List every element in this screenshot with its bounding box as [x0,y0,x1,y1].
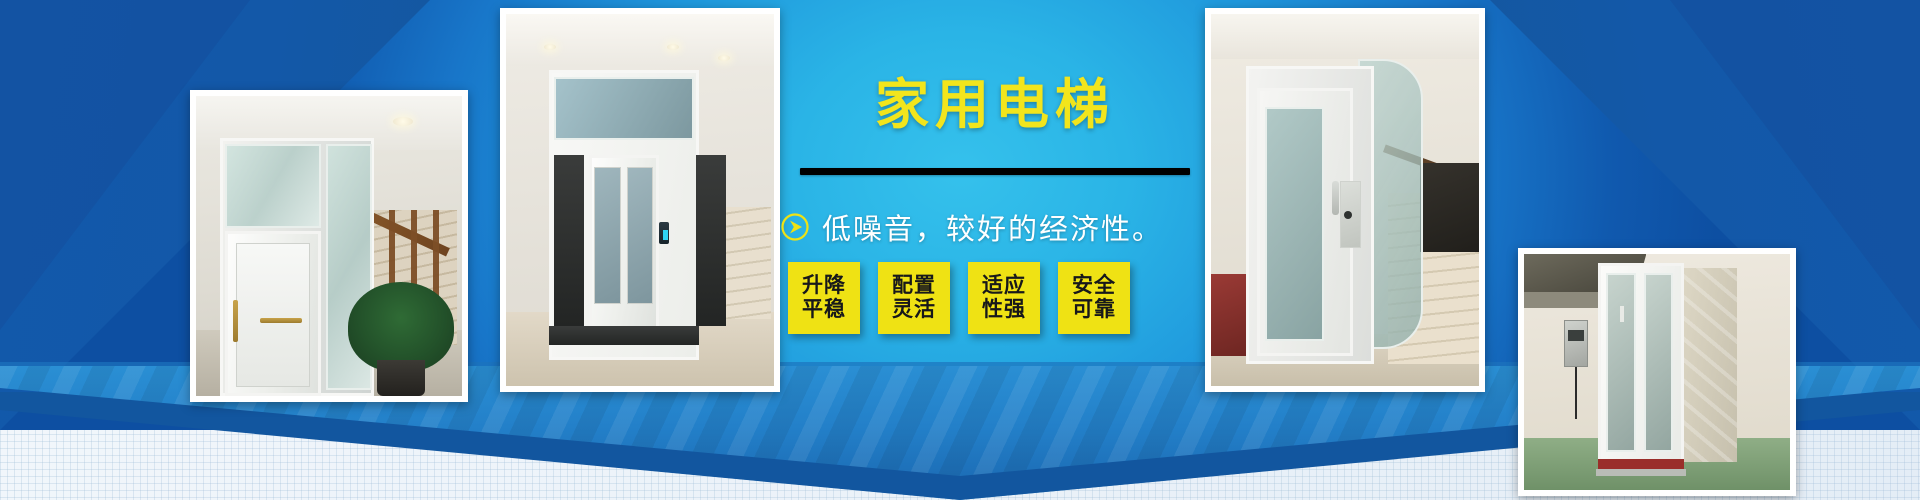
feature-badge-3-line2: 性强 [982,298,1026,322]
feature-badge-2-line2: 灵活 [892,298,936,322]
photo-2-image [506,14,774,386]
photo-elevator-installation-unfinished-room[interactable] [1518,248,1796,496]
page-title: 家用电梯 [760,78,1230,132]
feature-badge-1[interactable]: 升降 平稳 [788,262,860,334]
subtitle-row: 低噪音，较好的经济性。 [780,206,1220,248]
photo-3-image [1211,14,1479,386]
photo-white-door-elevator-with-marble-stairs[interactable] [500,8,780,392]
feature-badge-4-line1: 安全 [1072,274,1116,298]
feature-badge-1-line1: 升降 [802,274,846,298]
feature-badge-2[interactable]: 配置 灵活 [878,262,950,334]
photo-1-image [196,96,462,396]
photo-4-image [1524,254,1790,490]
circled-arrow-right-icon [780,212,810,242]
subtitle-text: 低噪音，较好的经济性。 [822,206,1163,248]
feature-badge-3[interactable]: 适应 性强 [968,262,1040,334]
feature-badge-4[interactable]: 安全 可靠 [1058,262,1130,334]
photo-glass-cabin-elevator-beside-curved-stairs[interactable] [1205,8,1485,392]
feature-badge-2-line1: 配置 [892,274,936,298]
feature-badge-1-line2: 平稳 [802,298,846,322]
feature-badge-3-line1: 适应 [982,274,1026,298]
center-text-block: 家用电梯 低噪音，较好的经济性。 升降 平稳 配置 灵活 适应 性强 [760,0,1230,430]
photo-glass-home-elevator-with-wooden-staircase[interactable] [190,90,468,402]
feature-badge-4-line2: 可靠 [1072,298,1116,322]
home-elevator-banner: 家用电梯 低噪音，较好的经济性。 升降 平稳 配置 灵活 适应 性强 [0,0,1920,500]
title-divider [800,168,1190,175]
feature-badge-list: 升降 平稳 配置 灵活 适应 性强 安全 可靠 [788,262,1208,334]
